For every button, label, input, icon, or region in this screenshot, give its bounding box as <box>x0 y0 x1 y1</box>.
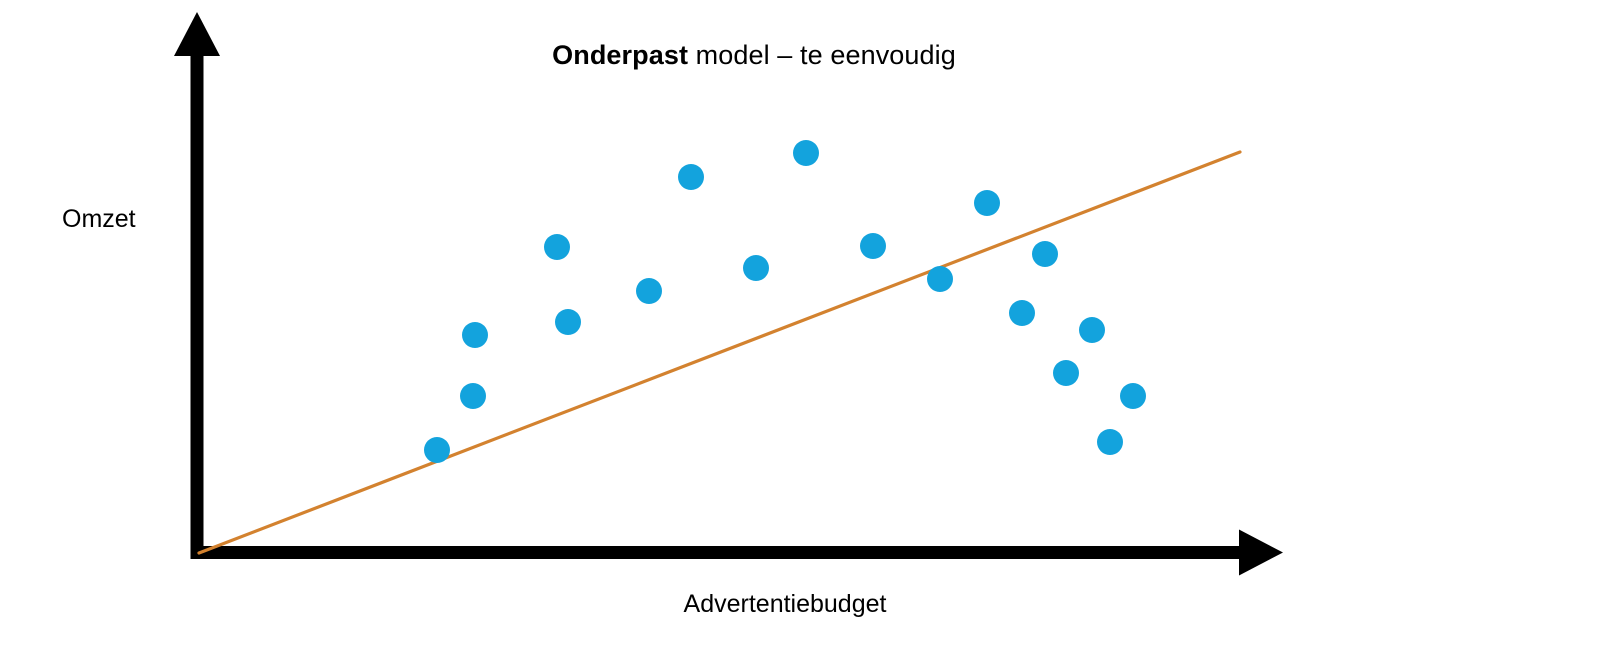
slide-canvas: Onderpast model – te eenvoudig Omzet Adv… <box>0 0 1616 656</box>
data-point <box>544 234 570 260</box>
x-axis-line <box>191 546 1246 559</box>
data-point <box>460 383 486 409</box>
data-point <box>1032 241 1058 267</box>
y-axis-arrow-icon <box>174 12 220 56</box>
data-point <box>678 164 704 190</box>
data-point <box>1097 429 1123 455</box>
data-point <box>1079 317 1105 343</box>
data-points-group <box>424 140 1146 463</box>
data-point <box>1120 383 1146 409</box>
data-point <box>462 322 488 348</box>
scatter-chart <box>0 0 1616 656</box>
data-point <box>793 140 819 166</box>
data-point <box>1053 360 1079 386</box>
trendline <box>199 152 1240 553</box>
data-point <box>1009 300 1035 326</box>
y-axis-line <box>191 48 204 559</box>
data-point <box>636 278 662 304</box>
x-axis-arrow-icon <box>1239 530 1283 576</box>
data-point <box>927 266 953 292</box>
data-point <box>424 437 450 463</box>
trendline-group <box>199 152 1240 553</box>
axes-group <box>174 12 1283 576</box>
data-point <box>974 190 1000 216</box>
data-point <box>743 255 769 281</box>
data-point <box>860 233 886 259</box>
data-point <box>555 309 581 335</box>
